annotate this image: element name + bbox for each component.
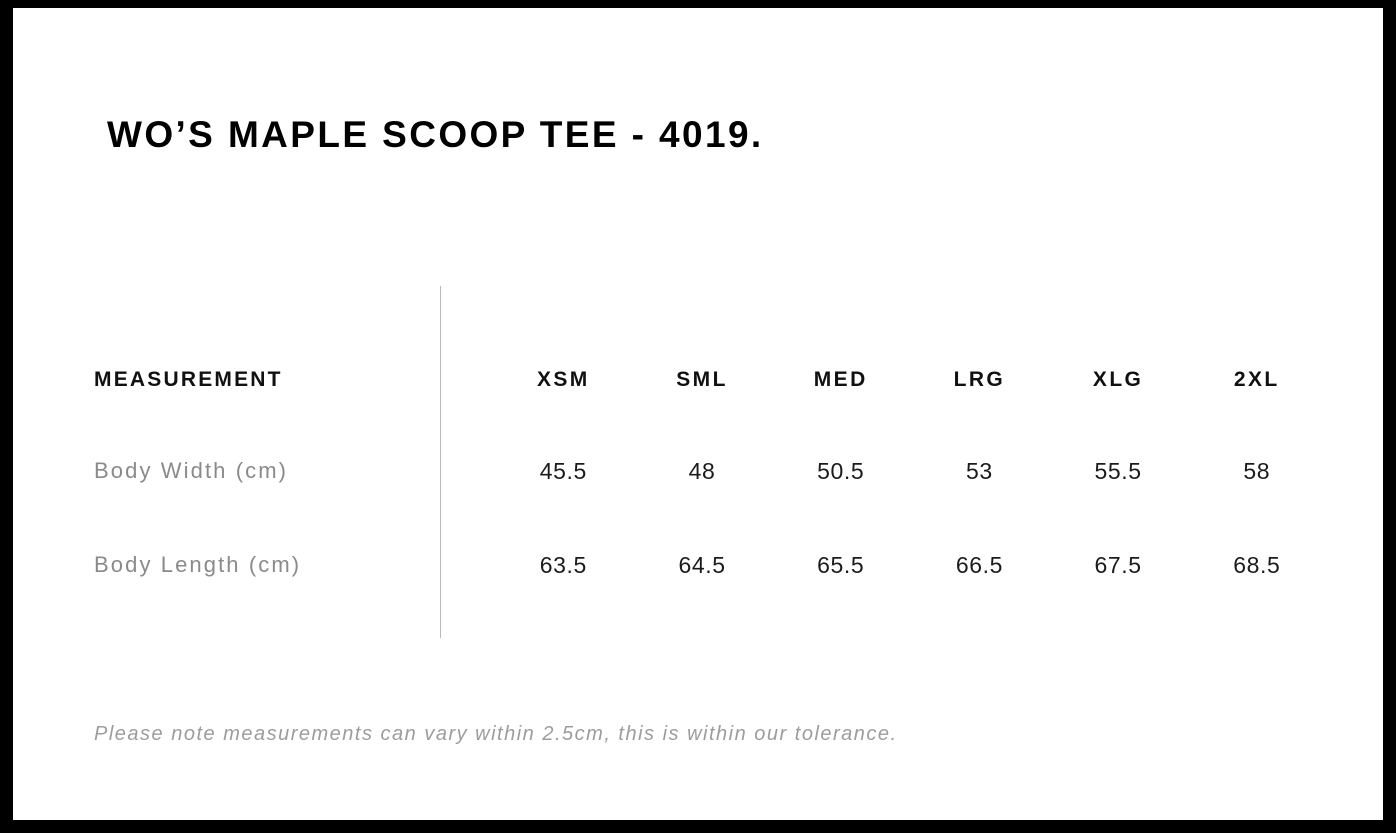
column-header-med: MED (771, 360, 910, 400)
column-header-xlg: XLG (1049, 360, 1188, 400)
column-header-xsm: XSM (494, 360, 633, 400)
table-row: Body Length (cm) 63.5 64.5 65.5 66.5 67.… (13, 545, 1383, 585)
cell-body-length-xlg: 67.5 (1049, 545, 1188, 585)
row-values-body-length: 63.5 64.5 65.5 66.5 67.5 68.5 (494, 545, 1294, 585)
cell-body-width-2xl: 58 (1187, 451, 1326, 491)
cell-body-width-sml: 48 (633, 451, 772, 491)
cell-body-length-lrg: 66.5 (910, 545, 1049, 585)
row-label-body-width: Body Width (cm) (94, 451, 288, 491)
column-header-2xl: 2XL (1187, 360, 1326, 400)
tolerance-note: Please note measurements can vary within… (94, 723, 898, 746)
column-header-measurement: MEASUREMENT (94, 360, 283, 400)
column-header-sml: SML (633, 360, 772, 400)
column-header-lrg: LRG (910, 360, 1049, 400)
cell-body-length-med: 65.5 (771, 545, 910, 585)
row-values-body-width: 45.5 48 50.5 53 55.5 58 (494, 451, 1294, 491)
size-chart-card: WO’S MAPLE SCOOP TEE - 4019. MEASUREMENT… (13, 8, 1383, 820)
size-header-cells: XSM SML MED LRG XLG 2XL (494, 360, 1294, 400)
size-chart-table: MEASUREMENT XSM SML MED LRG XLG 2XL Body… (13, 8, 1383, 820)
cell-body-width-xlg: 55.5 (1049, 451, 1188, 491)
table-header-row: MEASUREMENT XSM SML MED LRG XLG 2XL (13, 360, 1383, 400)
cell-body-width-med: 50.5 (771, 451, 910, 491)
table-row: Body Width (cm) 45.5 48 50.5 53 55.5 58 (13, 451, 1383, 491)
row-label-body-length: Body Length (cm) (94, 545, 301, 585)
cell-body-length-2xl: 68.5 (1187, 545, 1326, 585)
cell-body-width-xsm: 45.5 (494, 451, 633, 491)
cell-body-length-sml: 64.5 (633, 545, 772, 585)
cell-body-length-xsm: 63.5 (494, 545, 633, 585)
cell-body-width-lrg: 53 (910, 451, 1049, 491)
